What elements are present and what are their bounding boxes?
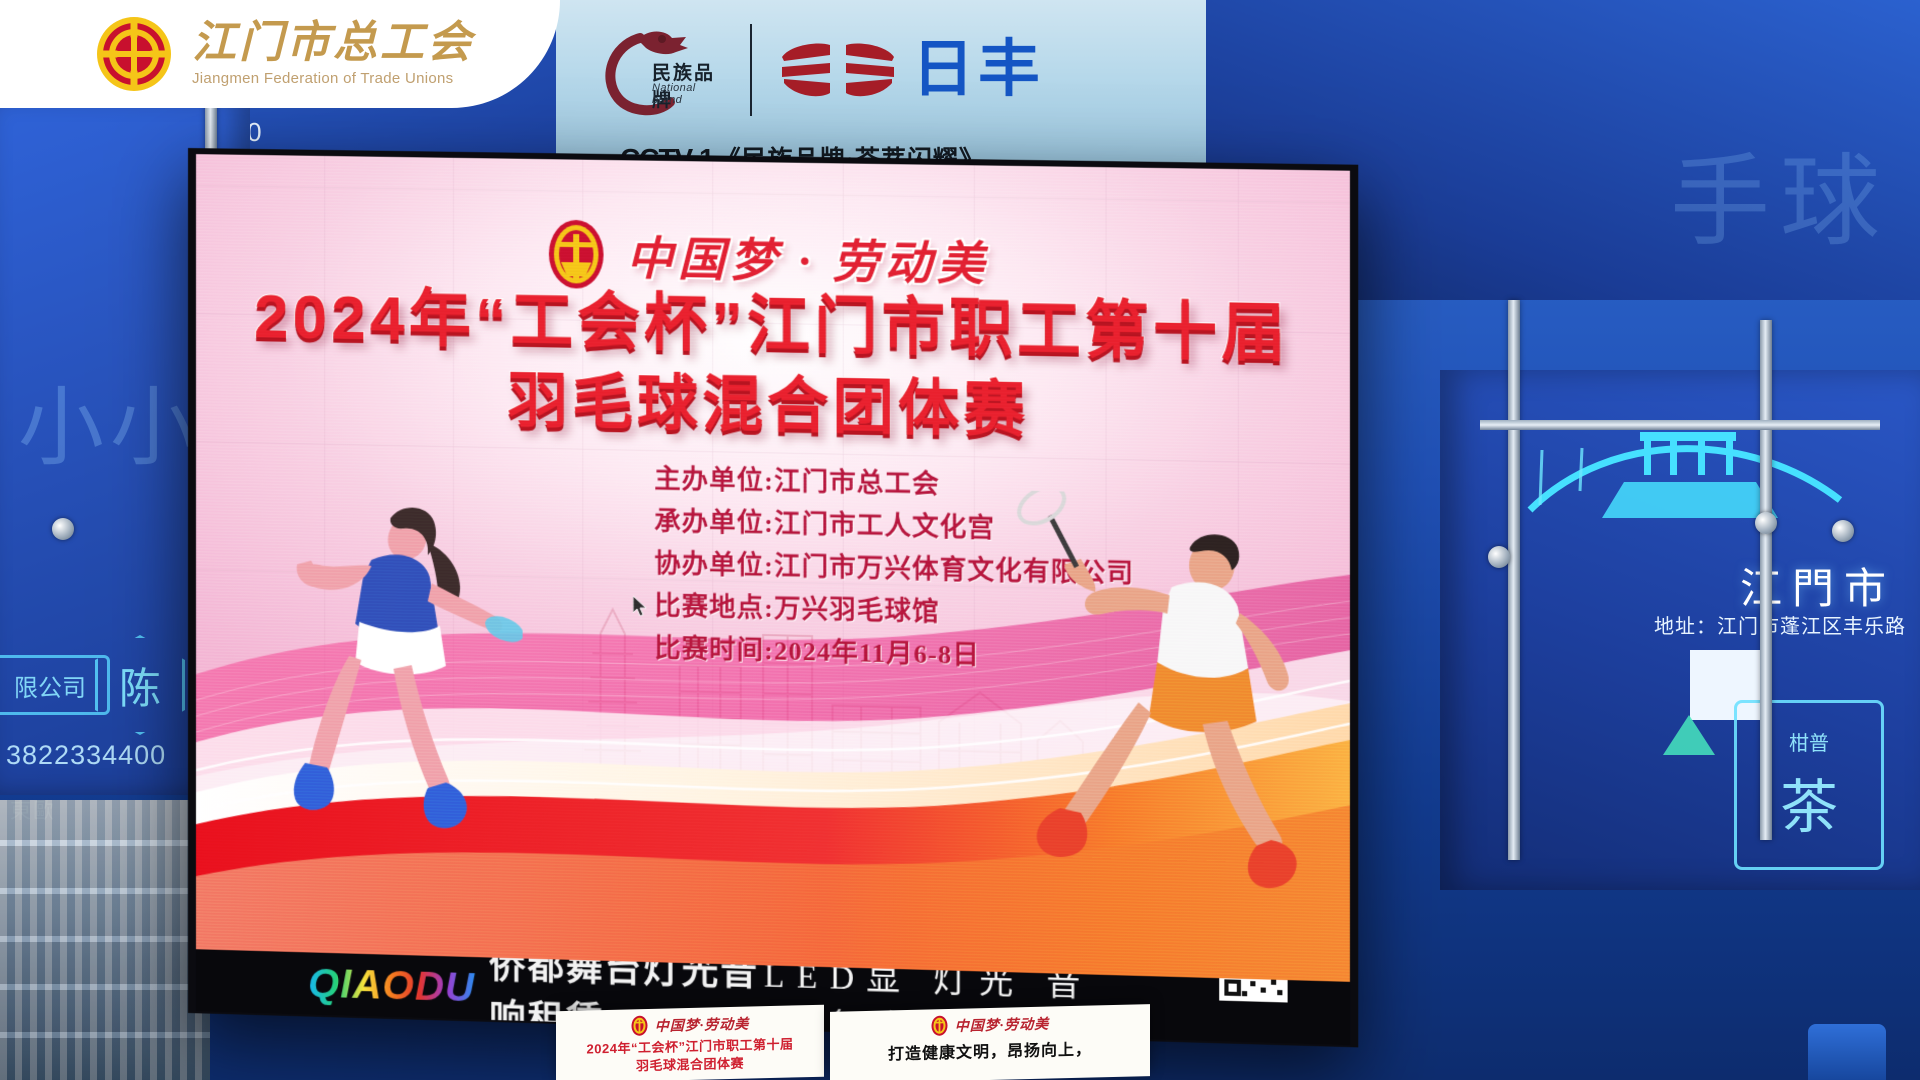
table-sign-right-body: 打造健康文明，昂扬向上， xyxy=(830,1037,1150,1068)
watermark-texts: 江门市总工会 Jiangmen Federation of Trade Unio… xyxy=(192,21,474,87)
led-screen-content: 中国梦 · 劳动美 2024年“工会杯”江门市职工第十届 羽毛球混合团体赛 主办… xyxy=(196,154,1350,987)
mouse-cursor-icon xyxy=(633,596,647,616)
tea-sign: 柑普 茶 xyxy=(1734,700,1884,870)
union-emblem-icon xyxy=(631,1015,648,1036)
right-banner-ghost-text: 手球 xyxy=(1670,120,1890,265)
tree-icon xyxy=(1663,715,1715,755)
channel-watermark: 江门市总工会 Jiangmen Federation of Trade Unio… xyxy=(0,0,560,108)
water-bottle-pallet xyxy=(0,800,210,1080)
watermark-org-cn: 江门市总工会 xyxy=(192,21,474,65)
qiaodu-logo: QIAODU xyxy=(308,961,475,1011)
screenshot-root: 电解质水 200 手球 小小 限公司 陈 3822334400 東歐 xyxy=(0,0,1920,1080)
national-brand-logo: 民族品牌 National brand xyxy=(596,24,724,116)
tea-sign-small: 柑普 xyxy=(1789,727,1829,756)
union-emblem-icon xyxy=(931,1015,948,1036)
table-sign-left: 中国梦·劳动美 2024年“工会杯”江门市职工第十届 羽毛球混合团体赛 xyxy=(556,1005,824,1080)
table-sign-right-slogan: 中国梦·劳动美 xyxy=(955,1013,1050,1035)
badminton-player-male-icon xyxy=(996,490,1337,925)
national-brand-en: National brand xyxy=(652,82,724,106)
sponsor-row: 民族品牌 National brand 日丰 xyxy=(596,24,1044,116)
table-sign-right-line1: 打造健康文明，昂扬向上， xyxy=(830,1037,1150,1068)
table-sign-right-head: 中国梦·劳动美 xyxy=(830,1010,1150,1039)
rifeng-mark-icon xyxy=(778,35,898,105)
truss-pole-far-right xyxy=(1760,320,1772,840)
led-stage-screen: 中国梦 · 劳动美 2024年“工会杯”江门市职工第十届 羽毛球混合团体赛 主办… xyxy=(188,148,1358,1047)
table-sign-left-slogan: 中国梦·劳动美 xyxy=(655,1013,750,1035)
table-sign-left-body: 2024年“工会杯”江门市职工第十届 羽毛球混合团体赛 xyxy=(556,1035,824,1077)
badminton-player-female-icon xyxy=(251,455,523,903)
bridge-icon xyxy=(1520,390,1850,540)
rifeng-sponsor: 日丰 xyxy=(778,35,1044,105)
led-slogan-text: 中国梦 · 劳动美 xyxy=(626,222,989,295)
blue-chair xyxy=(1808,1024,1886,1080)
tea-sign-big: 茶 xyxy=(1780,760,1838,844)
rifeng-brand-name: 日丰 xyxy=(912,39,1044,101)
watermark-org-en: Jiangmen Federation of Trade Unions xyxy=(192,70,474,87)
union-emblem-icon xyxy=(547,218,606,291)
chen-badge-icon: 陈 xyxy=(95,635,185,735)
chen-badge-label: 陈 xyxy=(119,655,161,716)
table-sign-left-head: 中国梦·劳动美 xyxy=(556,1011,824,1039)
left-wall-company-sign: 限公司 xyxy=(0,655,110,715)
led-title-line-2: 羽毛球混合团体赛 xyxy=(196,360,1350,453)
truss-clamp-3 xyxy=(1832,520,1854,542)
sponsor-divider xyxy=(750,24,752,116)
left-wall-phone: 3822334400 xyxy=(6,740,166,771)
truss-clamp-2 xyxy=(1755,512,1777,534)
union-emblem-icon xyxy=(96,16,172,92)
truss-beam-top xyxy=(1480,420,1880,430)
truss-clamp-4 xyxy=(52,518,74,540)
truss-pole-right xyxy=(1508,300,1520,860)
table-sign-right: 中国梦·劳动美 打造健康文明，昂扬向上， xyxy=(830,1004,1150,1080)
right-wall-address: 地址：江门市蓬江区丰乐路 xyxy=(1654,610,1906,639)
truss-clamp-1 xyxy=(1488,546,1510,568)
sponsor-backdrop: 民族品牌 National brand 日丰 xyxy=(556,0,1206,172)
led-title-block: 2024年“工会杯”江门市职工第十届 羽毛球混合团体赛 xyxy=(196,279,1350,453)
